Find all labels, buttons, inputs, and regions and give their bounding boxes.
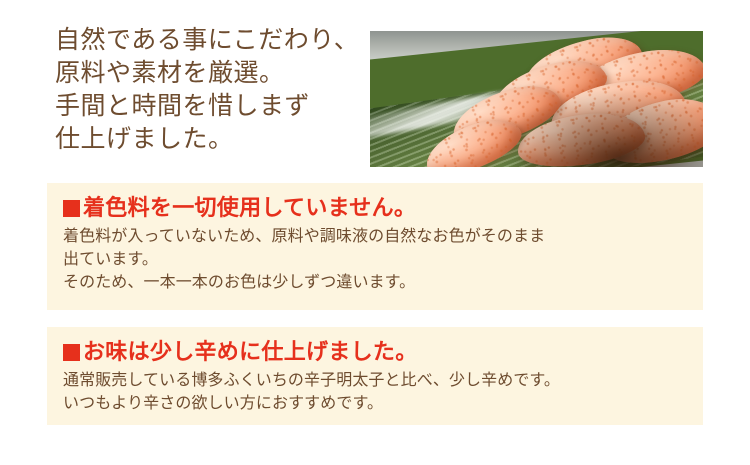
info-box-no-coloring: 着色料を一切使用していません。 着色料が入っていないため、原料や調味液の自然なお…: [47, 183, 703, 310]
info-box-spicier-taste: お味は少し辛めに仕上げました。 通常販売している博多ふくいちの辛子明太子と比べ、…: [47, 327, 703, 425]
info-heading: 着色料を一切使用していません。: [63, 193, 687, 223]
photo-shadow: [497, 88, 703, 167]
info-heading: お味は少し辛めに仕上げました。: [63, 337, 687, 367]
info-heading-text: お味は少し辛めに仕上げました。: [83, 337, 418, 367]
info-body-text: 着色料が入っていないため、原料や調味液の自然なお色がそのまま 出ています。 その…: [63, 225, 687, 294]
hero-section: 自然である事にこだわり、 原料や素材を厳選。 手間と時間を惜しまず 仕上げました…: [0, 0, 750, 180]
info-heading-text: 着色料を一切使用していません。: [83, 193, 416, 223]
hero-headline: 自然である事にこだわり、 原料や素材を厳選。 手間と時間を惜しまず 仕上げました…: [55, 24, 365, 156]
square-bullet-icon: [63, 344, 80, 361]
product-description-page: 自然である事にこだわり、 原料や素材を厳選。 手間と時間を惜しまず 仕上げました…: [0, 0, 750, 465]
square-bullet-icon: [63, 200, 80, 217]
mentaiko-product-photo: [370, 31, 703, 167]
info-body-text: 通常販売している博多ふくいちの辛子明太子と比べ、少し辛めです。 いつもより辛さの…: [63, 369, 687, 415]
